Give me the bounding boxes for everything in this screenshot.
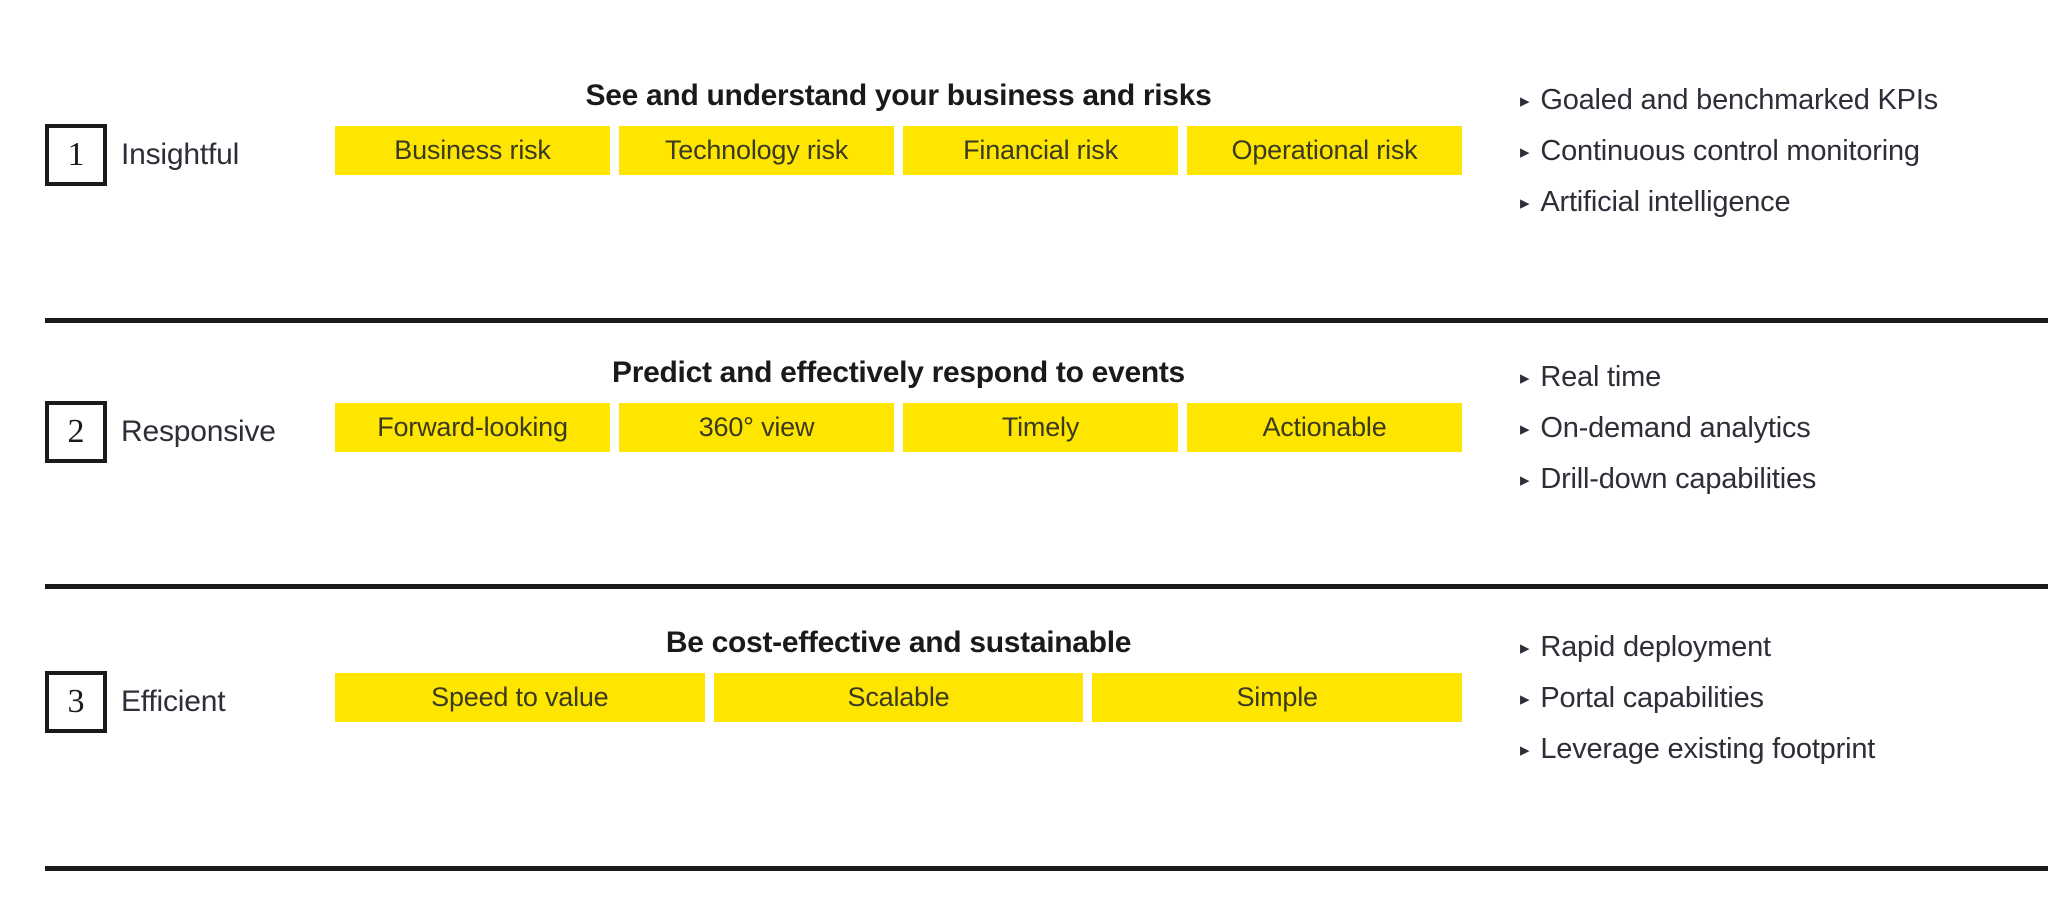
pill-item: Timely xyxy=(903,403,1178,452)
row-bullet-list: ▸ Rapid deployment ▸ Portal capabilities… xyxy=(1520,633,2040,786)
row-heading: Be cost-effective and sustainable xyxy=(335,625,1462,661)
pill-item: 360° view xyxy=(619,403,894,452)
row-center-column: Be cost-effective and sustainable Speed … xyxy=(335,625,1462,722)
pill-item: Simple xyxy=(1092,673,1462,722)
pill-item: Financial risk xyxy=(903,126,1178,175)
triangle-bullet-icon: ▸ xyxy=(1520,639,1529,658)
list-item: ▸ Rapid deployment xyxy=(1520,633,2040,662)
list-item: ▸ Portal capabilities xyxy=(1520,684,2040,713)
capability-row-insightful: 1 Insightful See and understand your bus… xyxy=(0,78,2048,278)
bullet-text: Drill-down capabilities xyxy=(1540,465,1816,494)
bullet-text: Real time xyxy=(1540,363,1661,392)
row-pill-strip: Speed to value Scalable Simple xyxy=(335,673,1462,722)
row-label-group: 1 Insightful xyxy=(45,124,239,186)
capability-framework-diagram: 1 Insightful See and understand your bus… xyxy=(0,0,2048,902)
row-center-column: Predict and effectively respond to event… xyxy=(335,355,1462,452)
row-center-column: See and understand your business and ris… xyxy=(335,78,1462,175)
triangle-bullet-icon: ▸ xyxy=(1520,92,1529,111)
list-item: ▸ Real time xyxy=(1520,363,2040,392)
pill-item: Operational risk xyxy=(1187,126,1462,175)
triangle-bullet-icon: ▸ xyxy=(1520,690,1529,709)
section-divider xyxy=(45,318,2048,323)
list-item: ▸ Goaled and benchmarked KPIs xyxy=(1520,86,2040,115)
triangle-bullet-icon: ▸ xyxy=(1520,471,1529,490)
pill-item: Actionable xyxy=(1187,403,1462,452)
pill-item: Forward-looking xyxy=(335,403,610,452)
bullet-text: Portal capabilities xyxy=(1540,684,1764,713)
row-pillar-name: Responsive xyxy=(121,415,276,449)
row-heading: Predict and effectively respond to event… xyxy=(335,355,1462,391)
row-heading: See and understand your business and ris… xyxy=(335,78,1462,114)
row-number-box: 2 xyxy=(45,401,107,463)
pill-item: Scalable xyxy=(714,673,1084,722)
bullet-text: Artificial intelligence xyxy=(1540,188,1790,217)
list-item: ▸ Artificial intelligence xyxy=(1520,188,2040,217)
row-pillar-name: Insightful xyxy=(121,138,239,172)
section-divider xyxy=(45,584,2048,589)
row-bullet-list: ▸ Goaled and benchmarked KPIs ▸ Continuo… xyxy=(1520,86,2040,239)
row-pillar-name: Efficient xyxy=(121,685,225,719)
row-label-group: 3 Efficient xyxy=(45,671,225,733)
row-number-box: 3 xyxy=(45,671,107,733)
triangle-bullet-icon: ▸ xyxy=(1520,741,1529,760)
list-item: ▸ On-demand analytics xyxy=(1520,414,2040,443)
row-number-box: 1 xyxy=(45,124,107,186)
bullet-text: Leverage existing footprint xyxy=(1540,735,1875,764)
row-bullet-list: ▸ Real time ▸ On-demand analytics ▸ Dril… xyxy=(1520,363,2040,516)
pill-item: Business risk xyxy=(335,126,610,175)
triangle-bullet-icon: ▸ xyxy=(1520,143,1529,162)
row-number: 3 xyxy=(68,685,85,719)
row-label-group: 2 Responsive xyxy=(45,401,276,463)
list-item: ▸ Leverage existing footprint xyxy=(1520,735,2040,764)
row-pill-strip: Business risk Technology risk Financial … xyxy=(335,126,1462,175)
triangle-bullet-icon: ▸ xyxy=(1520,369,1529,388)
pill-item: Technology risk xyxy=(619,126,894,175)
list-item: ▸ Continuous control monitoring xyxy=(1520,137,2040,166)
capability-row-efficient: 3 Efficient Be cost-effective and sustai… xyxy=(0,625,2048,825)
section-divider xyxy=(45,866,2048,871)
capability-row-responsive: 2 Responsive Predict and effectively res… xyxy=(0,355,2048,555)
triangle-bullet-icon: ▸ xyxy=(1520,420,1529,439)
row-number: 2 xyxy=(68,415,85,449)
row-pill-strip: Forward-looking 360° view Timely Actiona… xyxy=(335,403,1462,452)
pill-item: Speed to value xyxy=(335,673,705,722)
bullet-text: Continuous control monitoring xyxy=(1540,137,1919,166)
list-item: ▸ Drill-down capabilities xyxy=(1520,465,2040,494)
row-number: 1 xyxy=(68,138,85,172)
bullet-text: Rapid deployment xyxy=(1540,633,1771,662)
bullet-text: On-demand analytics xyxy=(1540,414,1810,443)
bullet-text: Goaled and benchmarked KPIs xyxy=(1540,86,1938,115)
triangle-bullet-icon: ▸ xyxy=(1520,194,1529,213)
